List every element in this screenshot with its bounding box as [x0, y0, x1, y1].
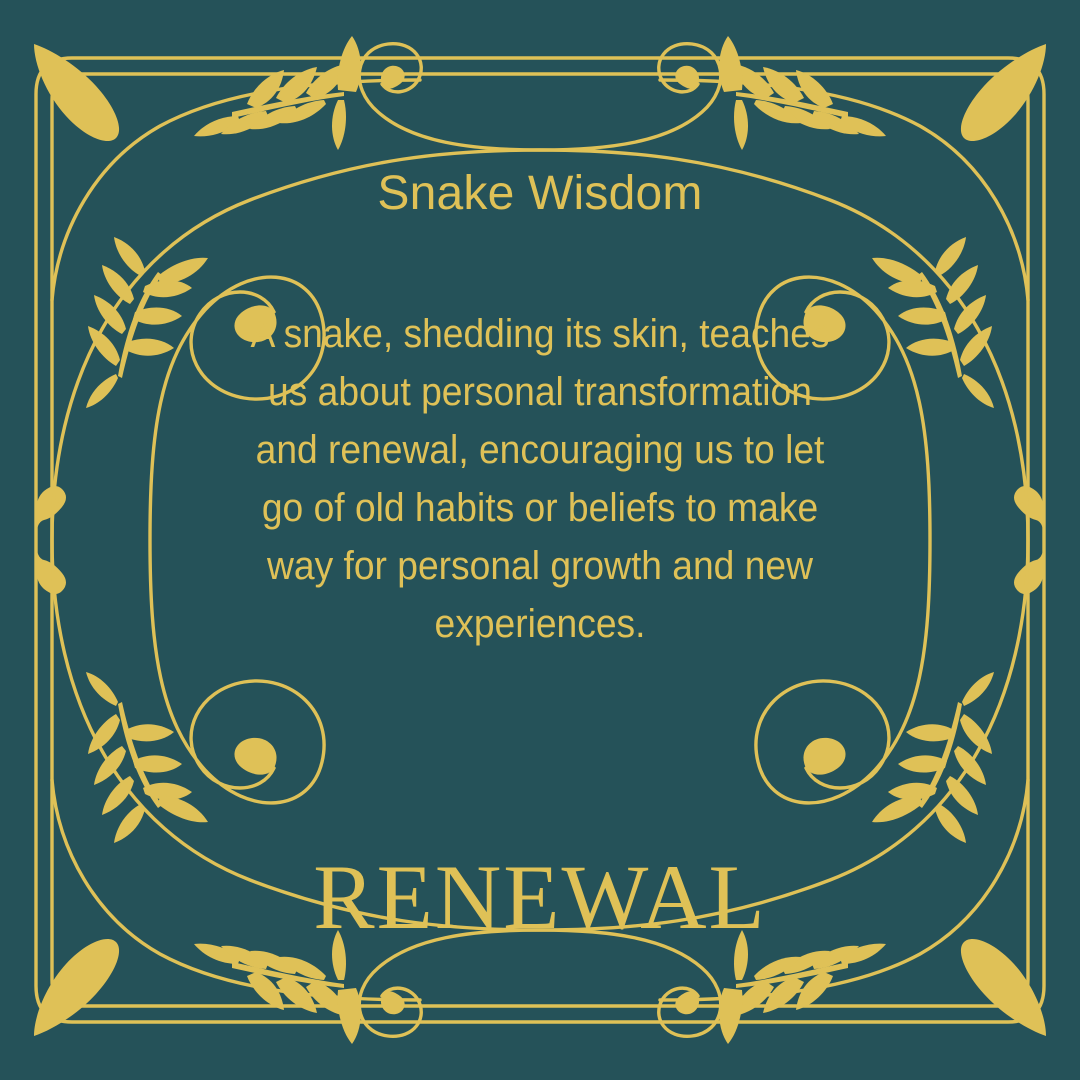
quote-line: go of old habits or beliefs to make — [262, 486, 818, 530]
quote-poster: Snake Wisdom A snake, shedding its skin,… — [0, 0, 1080, 1080]
quote-line: us about personal transformation — [268, 370, 812, 414]
corner-leaf — [34, 44, 119, 141]
teardrop-terminal-inner — [52, 540, 58, 576]
corner-leaf — [961, 939, 1046, 1036]
teardrop-terminal-inner — [1022, 540, 1028, 576]
teardrop-terminal-outer — [36, 486, 66, 540]
quote-line: way for personal growth and new — [267, 544, 813, 588]
teardrop-terminal-outer — [1014, 486, 1044, 540]
poster-content: Snake Wisdom A snake, shedding its skin,… — [160, 0, 920, 1080]
teardrop-terminal-outer — [1014, 540, 1044, 594]
teardrop-terminal-inner — [52, 504, 58, 540]
corner-leaf — [961, 44, 1046, 141]
corner-leaf — [34, 939, 119, 1036]
quote-line: and renewal, encouraging us to let — [256, 428, 825, 472]
quote-body: A snake, shedding its skin, teaches us a… — [187, 305, 894, 653]
wordmark-label: RENEWAL — [313, 846, 766, 948]
quote-line: A snake, shedding its skin, teaches — [250, 312, 829, 356]
teardrop-terminal-outer — [36, 540, 66, 594]
brand-wordmark: RENEWAL — [160, 845, 920, 955]
wordmark-svg: RENEWAL — [360, 850, 720, 950]
page-title: Snake Wisdom — [160, 170, 920, 218]
teardrop-terminal-inner — [1022, 504, 1028, 540]
quote-line: experiences. — [435, 602, 646, 646]
